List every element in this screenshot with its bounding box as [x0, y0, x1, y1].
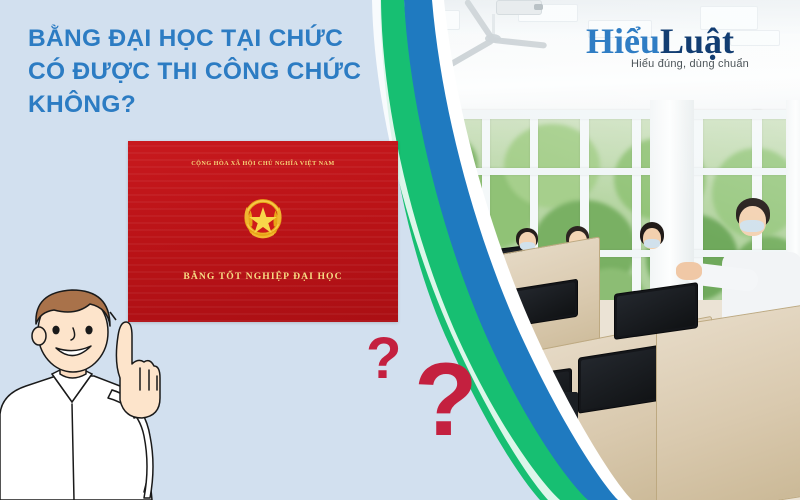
man-hand — [116, 322, 160, 418]
student-hair — [448, 238, 470, 258]
tree-foliage — [410, 222, 490, 306]
diploma-header-text: CỘNG HÒA XÃ HỘI CHỦ NGHĨA VIỆT NAM — [173, 160, 353, 167]
cartoon-man-pointing-up — [0, 286, 194, 500]
monitor — [400, 255, 442, 287]
headline-line-2: CÓ ĐƯỢC THI CÔNG CHỨC — [28, 55, 388, 88]
banner-canvas: BẰNG ĐẠI HỌC TẠI CHỨC CÓ ĐƯỢC THI CÔNG C… — [0, 0, 800, 500]
student-torso — [478, 352, 540, 404]
brand-logo[interactable]: HiểuLuật Hiểu đúng, dùng chuẩn — [565, 22, 755, 74]
brand-name-part1: Hiểu — [586, 21, 660, 61]
man-eye-left — [52, 326, 59, 335]
diploma-title-text: BẰNG TỐT NGHIỆP ĐẠI HỌC — [153, 271, 373, 282]
man-eye-right — [85, 326, 92, 335]
headline: BẰNG ĐẠI HỌC TẠI CHỨC CÓ ĐƯỢC THI CÔNG C… — [28, 22, 388, 121]
vietnam-national-emblem-icon — [236, 194, 290, 248]
motion-tick — [110, 312, 116, 320]
brand-name-part2: Luật — [660, 21, 734, 61]
desk-partition — [400, 262, 478, 310]
window-mullion — [400, 110, 405, 338]
question-mark-large: ? — [414, 348, 478, 452]
face-mask — [452, 252, 467, 260]
student-head — [451, 242, 468, 261]
brand-name: HiểuLuật — [565, 22, 755, 60]
headline-line-3: KHÔNG? — [28, 88, 388, 121]
headline-line-1: BẰNG ĐẠI HỌC TẠI CHỨC — [28, 22, 388, 55]
question-mark-small: ? — [366, 330, 401, 388]
man-ear — [32, 327, 46, 345]
window-mullion — [436, 112, 443, 334]
monitor — [406, 288, 464, 328]
